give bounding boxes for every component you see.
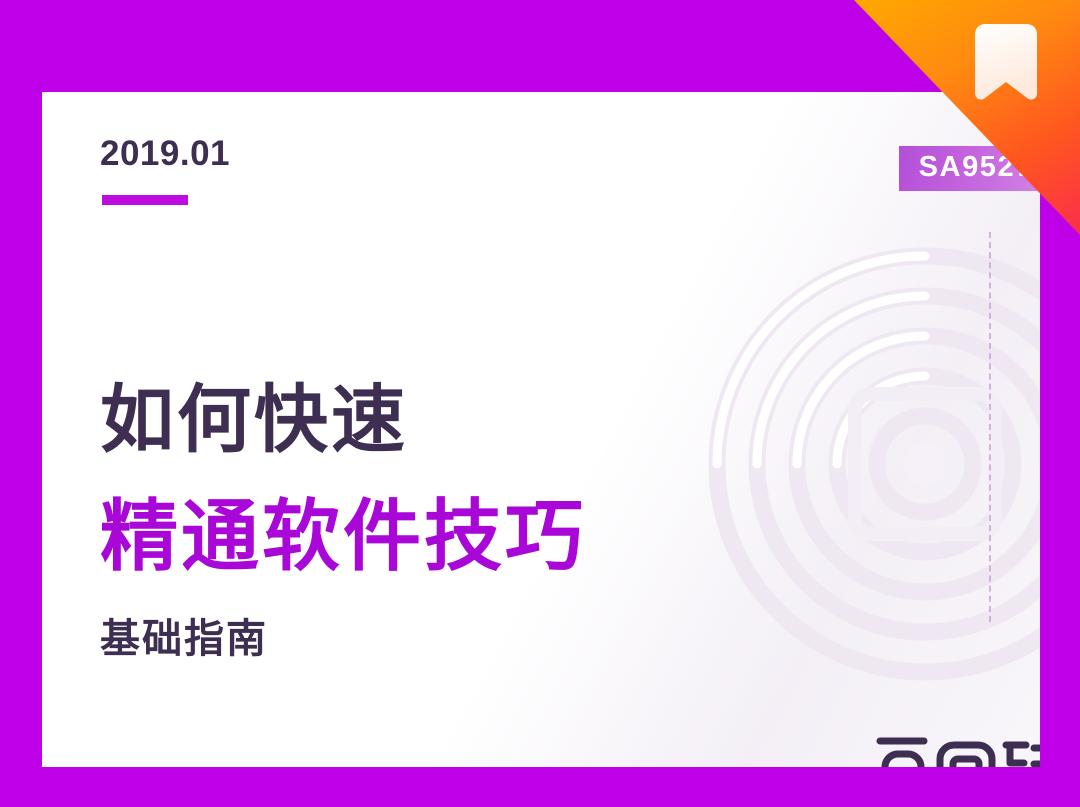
date-underline-bar bbox=[102, 195, 188, 205]
poster-canvas: 2019.01 SA9527 如何快速 精通软件技巧 基础指南 Sa设计研究所系… bbox=[0, 0, 1080, 807]
page-subtitle: 基础指南 bbox=[100, 606, 268, 664]
publish-date: 2019.01 bbox=[100, 134, 230, 174]
card-content: 2019.01 SA9527 如何快速 精通软件技巧 基础指南 Sa设计研究所系… bbox=[100, 92, 1000, 767]
brand-logo bbox=[874, 732, 1040, 767]
page-title-line-2: 精通软件技巧 bbox=[100, 474, 586, 586]
bookmark-icon bbox=[975, 24, 1037, 100]
poster-card: 2019.01 SA9527 如何快速 精通软件技巧 基础指南 Sa设计研究所系… bbox=[42, 92, 1040, 767]
page-title-line-1: 如何快速 bbox=[100, 360, 408, 467]
